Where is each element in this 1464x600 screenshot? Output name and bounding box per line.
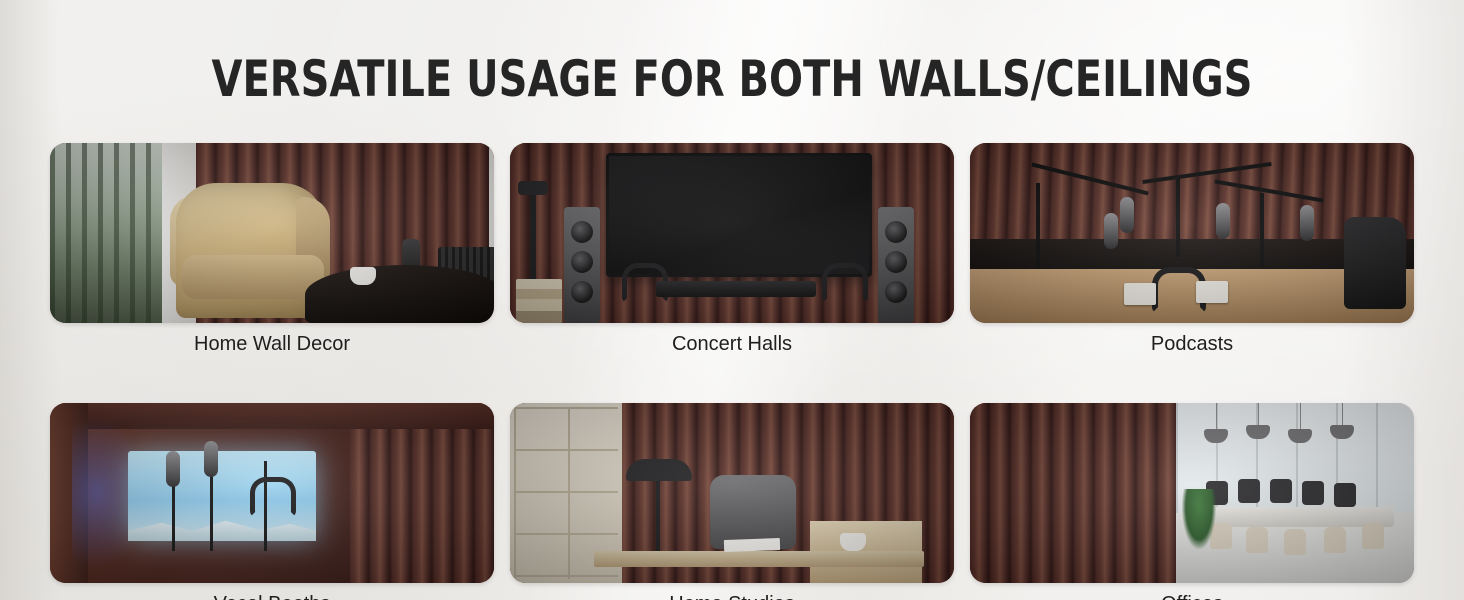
caption-concert-halls: Concert Halls: [510, 323, 954, 365]
feature-image-home-wall-decor: [50, 143, 494, 323]
coffee-cup: [350, 267, 376, 285]
feature-card-concert-halls: Concert Halls: [510, 143, 954, 365]
microphone: [204, 441, 218, 477]
landscape-graphic: [128, 515, 316, 541]
window-view: [50, 143, 170, 323]
conference-chair: [1324, 527, 1346, 553]
boom-stand: [1036, 183, 1040, 269]
conference-chair: [1334, 483, 1356, 507]
boom-stand: [1260, 193, 1264, 267]
slat-wall-texture: [970, 403, 1182, 583]
book-stack: [516, 279, 562, 323]
feature-card-vocal-booths: Vocal Booths: [50, 403, 494, 600]
conference-chair: [1238, 479, 1260, 503]
headphones: [250, 477, 296, 517]
microphone: [1120, 197, 1134, 233]
feature-card-podcasts: Podcasts: [970, 143, 1414, 365]
potted-plant: [1182, 489, 1216, 549]
floor-lamp-pole: [530, 189, 536, 281]
television: [606, 153, 872, 277]
trees-silhouette: [50, 143, 170, 323]
speaker-right: [878, 207, 914, 323]
office-chair: [710, 475, 796, 549]
conference-chair: [1362, 523, 1384, 549]
speaker-cone: [885, 251, 907, 273]
caption-podcasts: Podcasts: [970, 323, 1414, 365]
pendant-wire: [1216, 403, 1217, 431]
side-table: [305, 265, 494, 323]
speaker-cone: [885, 221, 907, 243]
caption-home-studios: Home Studios: [510, 583, 954, 600]
slat-wall-texture: [350, 403, 494, 583]
feature-image-offices: [970, 403, 1414, 583]
pendant-wire: [1258, 403, 1259, 427]
conference-chair: [1270, 479, 1292, 503]
pendant-wire: [1300, 403, 1301, 431]
feature-image-concert-halls: [510, 143, 954, 323]
microphone: [166, 451, 180, 487]
feature-card-home-wall-decor: Home Wall Decor: [50, 143, 494, 365]
coffee-cup: [840, 533, 866, 551]
caption-home-wall-decor: Home Wall Decor: [50, 323, 494, 365]
caption-vocal-booths: Vocal Booths: [50, 583, 494, 600]
soundbar: [656, 281, 816, 297]
microphone: [1104, 213, 1118, 249]
feature-card-home-studios: Home Studios: [510, 403, 954, 600]
boom-stand: [1176, 177, 1180, 257]
microphone: [1216, 203, 1230, 239]
speaker-cone: [571, 221, 593, 243]
pendant-wire: [1342, 403, 1343, 427]
product-feature-banner: VERSATILE USAGE FOR BOTH WALLS/CEILINGS: [0, 0, 1464, 600]
feature-image-podcasts: [970, 143, 1414, 323]
feature-image-home-studios: [510, 403, 954, 583]
name-card: [1196, 281, 1228, 303]
floor-lamp-head: [518, 181, 548, 195]
speaker-cone: [571, 281, 593, 303]
headphones-right: [822, 263, 868, 303]
feature-grid: Home Wall Decor: [50, 143, 1414, 600]
feature-card-offices: Offices: [970, 403, 1414, 600]
desk-top: [594, 551, 924, 567]
speaker-cone: [885, 281, 907, 303]
conference-chair: [1302, 481, 1324, 505]
conference-chair: [1246, 527, 1268, 553]
feature-image-vocal-booths: [50, 403, 494, 583]
armchair-seat: [182, 255, 324, 299]
name-card: [1124, 283, 1156, 305]
desk-lamp-shade: [626, 459, 692, 481]
studio-chair: [1344, 217, 1406, 309]
microphone: [1300, 205, 1314, 241]
page-title: VERSATILE USAGE FOR BOTH WALLS/CEILINGS: [146, 50, 1317, 108]
caption-offices: Offices: [970, 583, 1414, 600]
speaker-left: [564, 207, 600, 323]
conference-chair: [1284, 529, 1306, 555]
speaker-cone: [571, 251, 593, 273]
paper-sheet: [724, 538, 780, 552]
